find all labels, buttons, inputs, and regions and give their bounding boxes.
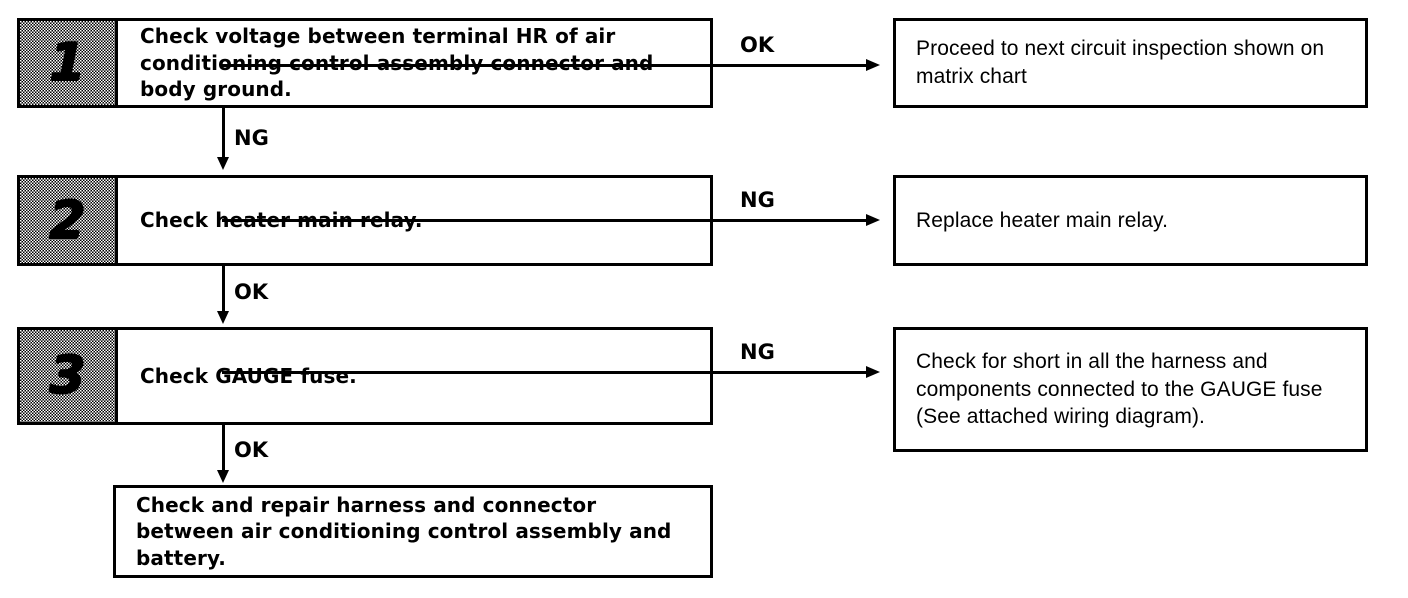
arrow-down-icon-step2 — [217, 157, 229, 170]
arrow-right-icon-result3 — [866, 366, 880, 378]
step-box-1[interactable]: 1 Check voltage between terminal HR of a… — [17, 18, 713, 108]
connector-label-step1-ng: NG — [234, 128, 269, 149]
connector-step3-to-final — [222, 425, 225, 472]
connector-step3-to-result3 — [222, 371, 868, 374]
arrow-right-icon-result2 — [866, 214, 880, 226]
connector-step2-to-result2 — [222, 219, 868, 222]
connector-label-step2-ok: OK — [234, 282, 268, 303]
connector-step1-to-result1 — [222, 64, 868, 67]
final-action-box[interactable]: Check and repair harness and connector b… — [113, 485, 713, 578]
connector-label-step2-ng: NG — [740, 190, 775, 211]
connector-step1-to-step2 — [222, 108, 225, 160]
step-box-3[interactable]: 3 Check GAUGE fuse. — [17, 327, 713, 425]
result-box-2[interactable]: Replace heater main relay. — [893, 175, 1368, 266]
step-number-badge-3: 3 — [20, 330, 118, 422]
result-text-2: Replace heater main relay. — [896, 207, 1365, 235]
result-text-3: Check for short in all the harness and c… — [896, 348, 1365, 432]
connector-step2-to-step3 — [222, 266, 225, 314]
connector-label-step3-ok: OK — [234, 440, 268, 461]
arrow-right-icon-result1 — [866, 59, 880, 71]
result-text-1: Proceed to next circuit inspection shown… — [896, 35, 1365, 91]
result-box-3[interactable]: Check for short in all the harness and c… — [893, 327, 1368, 452]
arrow-down-icon-step3 — [217, 311, 229, 324]
step-text-1: Check voltage between terminal HR of air… — [118, 23, 710, 102]
connector-label-step1-ok: OK — [740, 35, 774, 56]
flowchart-canvas: 1 Check voltage between terminal HR of a… — [0, 0, 1408, 598]
step-number-badge-1: 1 — [20, 21, 118, 105]
connector-label-step3-ng: NG — [740, 342, 775, 363]
arrow-down-icon-final — [217, 470, 229, 483]
final-action-text: Check and repair harness and connector b… — [116, 492, 710, 571]
step-number-2: 2 — [49, 195, 85, 247]
step-number-1: 1 — [49, 37, 85, 89]
result-box-1[interactable]: Proceed to next circuit inspection shown… — [893, 18, 1368, 108]
step-number-badge-2: 2 — [20, 178, 118, 263]
step-number-3: 3 — [49, 350, 85, 402]
step-text-3: Check GAUGE fuse. — [118, 363, 710, 389]
